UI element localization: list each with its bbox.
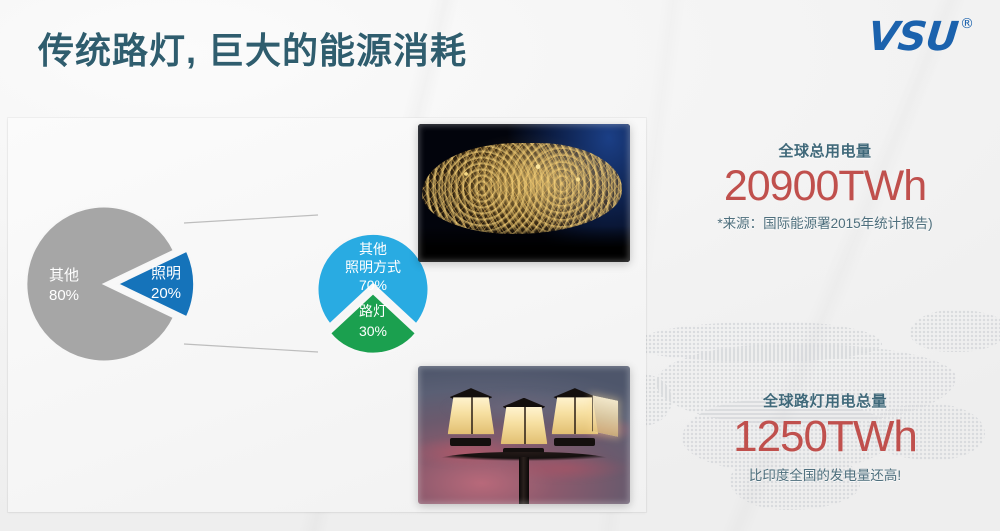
page-title: 传统路灯, 巨大的能源消耗 (38, 22, 467, 74)
pie1-lighting-label-2: 20% (151, 285, 181, 302)
pie1-lighting-label-1: 照明 (151, 265, 181, 282)
pie2-streetlight-label-2: 30% (359, 323, 387, 339)
pie-chart-primary: 其他 80% 照明 20% (26, 207, 194, 362)
pie-chart-group: 其他 80% 照明 20% 其他 照明方式 70% 路灯 30% (0, 150, 400, 400)
registered-trademark-icon: ® (960, 16, 974, 32)
stat-label: 全球总用电量 (660, 140, 990, 161)
pie1-other-label-1: 其他 (49, 267, 79, 284)
slide-canvas: 传统路灯, 巨大的能源消耗 VSU ® 其他 80% 照明 20% (0, 0, 1000, 531)
stat-comparison-note: 比印度全国的发电量还高! (660, 464, 990, 484)
street-lamp-photo (418, 366, 630, 504)
pie2-other-label-3: 70% (359, 277, 387, 293)
night-lights-photo (418, 124, 630, 262)
stat-streetlight-total: 全球路灯用电总量 1250TWh 比印度全国的发电量还高! (660, 390, 990, 484)
vsu-logo: VSU ® (868, 14, 974, 60)
pie2-other-label-1: 其他 (359, 241, 387, 257)
pie-connector-lines (184, 215, 318, 352)
logo-wordmark: VSU (865, 14, 959, 60)
stat-global-total: 全球总用电量 20900TWh *来源：国际能源署2015年统计报告) (660, 140, 990, 232)
stat-source-note: *来源：国际能源署2015年统计报告) (660, 212, 990, 232)
pie1-other-label-2: 80% (49, 287, 79, 304)
stat-value: 1250TWh (660, 413, 990, 461)
photo-soft-edge (418, 124, 630, 262)
pie-chart-secondary: 其他 照明方式 70% 路灯 30% (318, 234, 429, 354)
stat-value: 20900TWh (660, 163, 990, 209)
pie2-streetlight-label-1: 路灯 (359, 303, 387, 319)
pie2-other-label-2: 照明方式 (345, 259, 401, 275)
photo-soft-edge (418, 366, 630, 504)
pie-charts-svg: 其他 80% 照明 20% 其他 照明方式 70% 路灯 30% (0, 150, 400, 400)
stat-label: 全球路灯用电总量 (660, 390, 990, 411)
